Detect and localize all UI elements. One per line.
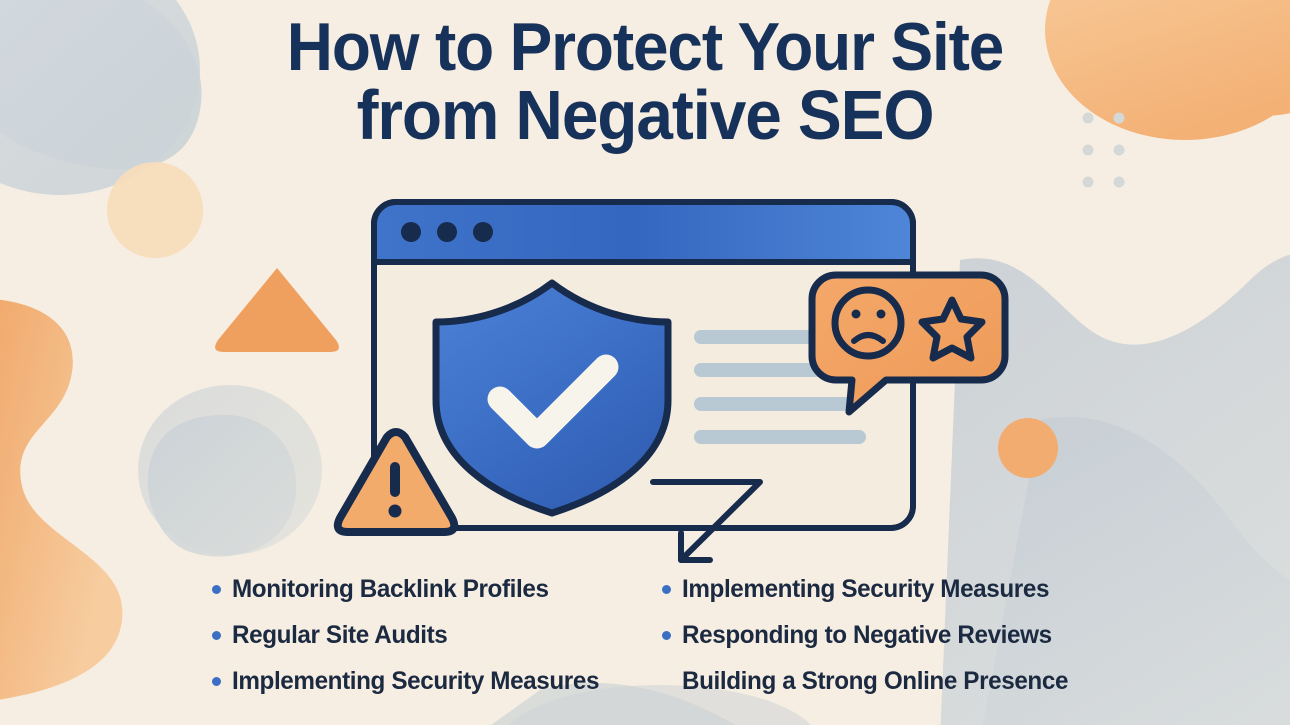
list-item-label: Implementing Security Measures — [232, 667, 599, 696]
list-item-label: Regular Site Audits — [232, 621, 447, 650]
list-item-label: Implementing Security Measures — [682, 575, 1049, 604]
list-item[interactable]: Implementing Security Measures — [662, 566, 1080, 612]
infographic-canvas: How to Protect Your Site from Negative S… — [0, 0, 1290, 725]
list-item[interactable]: Monitoring Backlink Profiles — [212, 566, 610, 612]
list-item-label: Responding to Negative Reviews — [682, 621, 1052, 650]
list-item-label: Building a Strong Online Presence — [682, 667, 1068, 696]
bullet-dot-icon — [662, 585, 671, 594]
list-item[interactable]: Implementing Security Measures — [212, 658, 610, 704]
list-item-label: Monitoring Backlink Profiles — [232, 575, 549, 604]
list-item[interactable]: Responding to Negative Reviews — [662, 612, 1080, 658]
bullet-lists: Monitoring Backlink Profiles Regular Sit… — [0, 566, 1290, 716]
bullet-dot-icon — [662, 631, 671, 640]
bullet-column-left: Monitoring Backlink Profiles Regular Sit… — [212, 566, 610, 704]
bullet-dot-icon — [212, 677, 221, 686]
bullet-dot-icon — [212, 585, 221, 594]
list-item[interactable]: Regular Site Audits — [212, 612, 610, 658]
bullet-dot-icon — [212, 631, 221, 640]
bullet-dot-icon — [662, 677, 671, 686]
list-item[interactable]: Building a Strong Online Presence — [662, 658, 1080, 704]
bullet-column-right: Implementing Security Measures Respondin… — [662, 566, 1080, 704]
